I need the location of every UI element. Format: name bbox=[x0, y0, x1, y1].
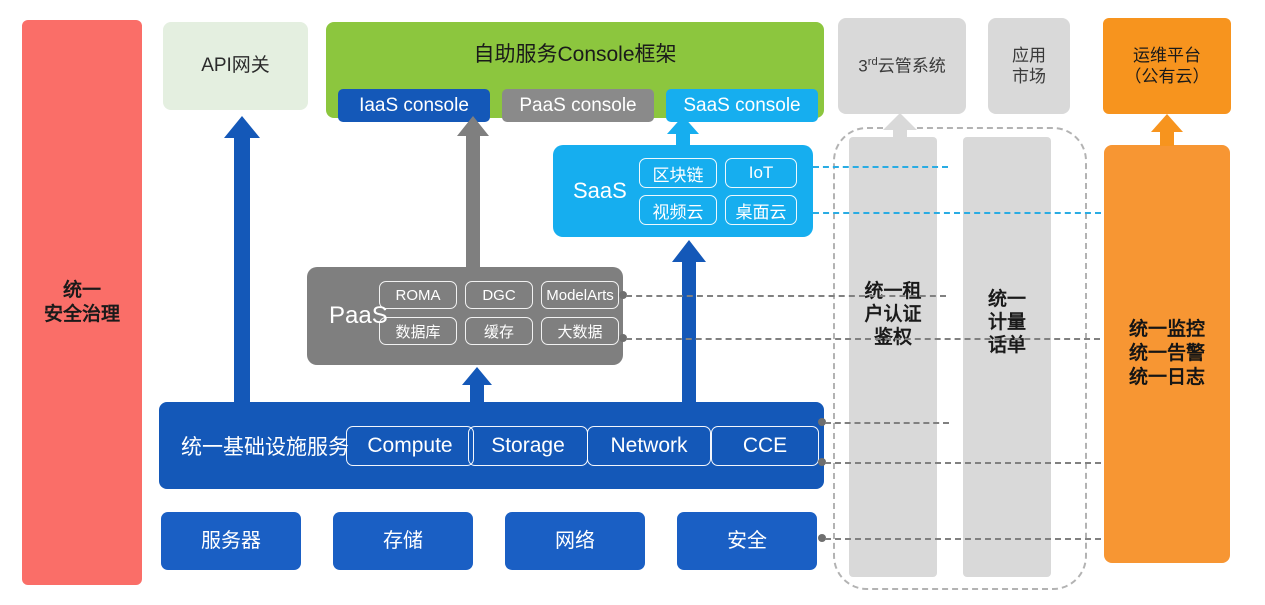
hardware-tile-server[interactable]: 服务器 bbox=[161, 512, 301, 570]
hardware-network-label: 网络 bbox=[555, 529, 595, 554]
paas-chip-modelarts[interactable]: ModelArts bbox=[541, 281, 619, 309]
unified-infrastructure-service-block: 统一基础设施服务 Compute Storage Network CCE bbox=[159, 402, 824, 489]
infra-chip-storage[interactable]: Storage bbox=[468, 426, 588, 466]
billing-line2: 计量 bbox=[963, 311, 1051, 334]
dashed-infra-to-billing bbox=[825, 422, 949, 424]
dashed-hardware-to-ops bbox=[825, 538, 1101, 540]
dashed-paas-to-ops bbox=[626, 338, 1100, 340]
console-frame-title: 自助服务Console框架 bbox=[326, 38, 824, 68]
infrastructure-label: 统一基础设施服务 bbox=[181, 431, 349, 461]
paas-chip-dgc[interactable]: DGC bbox=[465, 281, 533, 309]
saas-chip-video-cloud[interactable]: 视频云 bbox=[639, 195, 717, 225]
api-gateway-label: API网关 bbox=[201, 54, 270, 78]
ops-panel-line2: 统一告警 bbox=[1129, 342, 1205, 366]
saas-chip-video-cloud-label: 视频云 bbox=[653, 198, 704, 223]
paas-chip-bigdata[interactable]: 大数据 bbox=[541, 317, 619, 345]
saas-chip-desktop-cloud-label: 桌面云 bbox=[736, 198, 787, 223]
infra-chip-cce[interactable]: CCE bbox=[711, 426, 819, 466]
hardware-tile-storage[interactable]: 存储 bbox=[333, 512, 473, 570]
paas-block: PaaS ROMA DGC ModelArts 数据库 缓存 大数据 bbox=[307, 267, 623, 365]
app-market-box: 应用 市场 bbox=[988, 18, 1070, 114]
arrow-ops-panel-to-ops-platform bbox=[1148, 114, 1186, 146]
architecture-diagram: 统一 安全治理 API网关 自助服务Console框架 IaaS console… bbox=[0, 0, 1265, 605]
saas-chip-blockchain-label: 区块链 bbox=[653, 161, 704, 186]
unified-security-governance-panel: 统一 安全治理 bbox=[22, 20, 142, 585]
auth-line1: 统一租 bbox=[849, 280, 937, 303]
saas-console-label: SaaS console bbox=[683, 95, 800, 117]
hardware-storage-label: 存储 bbox=[383, 529, 423, 554]
billing-line1: 统一 bbox=[963, 288, 1051, 311]
saas-chip-desktop-cloud[interactable]: 桌面云 bbox=[725, 195, 797, 225]
paas-chip-bigdata-label: 大数据 bbox=[557, 321, 602, 342]
saas-chip-iot[interactable]: IoT bbox=[725, 158, 797, 188]
unified-metering-billing-label: 统一 计量 话单 bbox=[963, 288, 1051, 358]
unified-tenant-auth-column bbox=[849, 137, 937, 577]
paas-chip-roma[interactable]: ROMA bbox=[379, 281, 457, 309]
third-party-superscript: rd bbox=[868, 56, 878, 68]
paas-chip-dgc-label: DGC bbox=[482, 287, 515, 304]
dashed-saas-to-auth bbox=[813, 166, 948, 168]
paas-chip-modelarts-label: ModelArts bbox=[546, 287, 614, 304]
arrow-infra-to-api-gateway bbox=[222, 116, 262, 406]
saas-chip-blockchain[interactable]: 区块链 bbox=[639, 158, 717, 188]
infra-chip-storage-label: Storage bbox=[491, 434, 565, 458]
paas-chip-cache-label: 缓存 bbox=[484, 321, 514, 342]
iaas-console-label: IaaS console bbox=[359, 95, 469, 117]
self-service-console-frame: 自助服务Console框架 IaaS console PaaS console … bbox=[326, 22, 824, 118]
saas-label: SaaS bbox=[573, 178, 627, 204]
arrow-infra-to-paas bbox=[460, 367, 494, 404]
ops-panel-line3: 统一日志 bbox=[1129, 366, 1205, 390]
unified-ops-panel: 统一监控 统一告警 统一日志 bbox=[1104, 145, 1230, 563]
hardware-server-label: 服务器 bbox=[201, 529, 261, 554]
ops-platform-public-cloud-box: 运维平台 （公有云） bbox=[1103, 18, 1231, 114]
dashed-saas-to-ops bbox=[813, 212, 1101, 214]
auth-line2: 户认证 bbox=[849, 303, 937, 326]
arrow-saas-to-console bbox=[665, 116, 701, 148]
third-party-cloud-mgmt-box: 3rd云管系统 bbox=[838, 18, 966, 114]
arrow-paas-to-console bbox=[455, 116, 491, 268]
security-label-line1: 统一 bbox=[44, 279, 120, 303]
paas-chip-database[interactable]: 数据库 bbox=[379, 317, 457, 345]
paas-console-label: PaaS console bbox=[519, 95, 636, 117]
dashed-infra-to-ops bbox=[825, 462, 1101, 464]
app-market-line2: 市场 bbox=[1012, 66, 1046, 87]
hardware-security-label: 安全 bbox=[727, 529, 767, 554]
security-label-line2: 安全治理 bbox=[44, 303, 120, 327]
dashed-paas-to-auth bbox=[626, 295, 946, 297]
app-market-line1: 应用 bbox=[1012, 45, 1046, 66]
api-gateway-box: API网关 bbox=[163, 22, 308, 110]
infra-chip-network-label: Network bbox=[610, 434, 687, 458]
infra-chip-cce-label: CCE bbox=[743, 434, 787, 458]
saas-block: SaaS 区块链 IoT 视频云 桌面云 bbox=[553, 145, 813, 237]
hardware-tile-security[interactable]: 安全 bbox=[677, 512, 817, 570]
paas-chip-roma-label: ROMA bbox=[396, 287, 441, 304]
ops-panel-line1: 统一监控 bbox=[1129, 318, 1205, 342]
ops-platform-line1: 运维平台 bbox=[1125, 45, 1210, 66]
ops-platform-line2: （公有云） bbox=[1125, 66, 1210, 87]
infra-chip-compute-label: Compute bbox=[367, 434, 452, 458]
arrow-shared-to-third-party bbox=[880, 113, 920, 143]
third-party-label: 3rd云管系统 bbox=[858, 55, 945, 77]
infra-chip-network[interactable]: Network bbox=[587, 426, 711, 466]
paas-console-badge[interactable]: PaaS console bbox=[502, 89, 654, 122]
infra-chip-compute[interactable]: Compute bbox=[346, 426, 474, 466]
saas-chip-iot-label: IoT bbox=[749, 163, 774, 183]
arrow-infra-to-saas bbox=[670, 240, 708, 403]
paas-chip-cache[interactable]: 缓存 bbox=[465, 317, 533, 345]
hardware-tile-network[interactable]: 网络 bbox=[505, 512, 645, 570]
paas-chip-database-label: 数据库 bbox=[395, 321, 440, 342]
